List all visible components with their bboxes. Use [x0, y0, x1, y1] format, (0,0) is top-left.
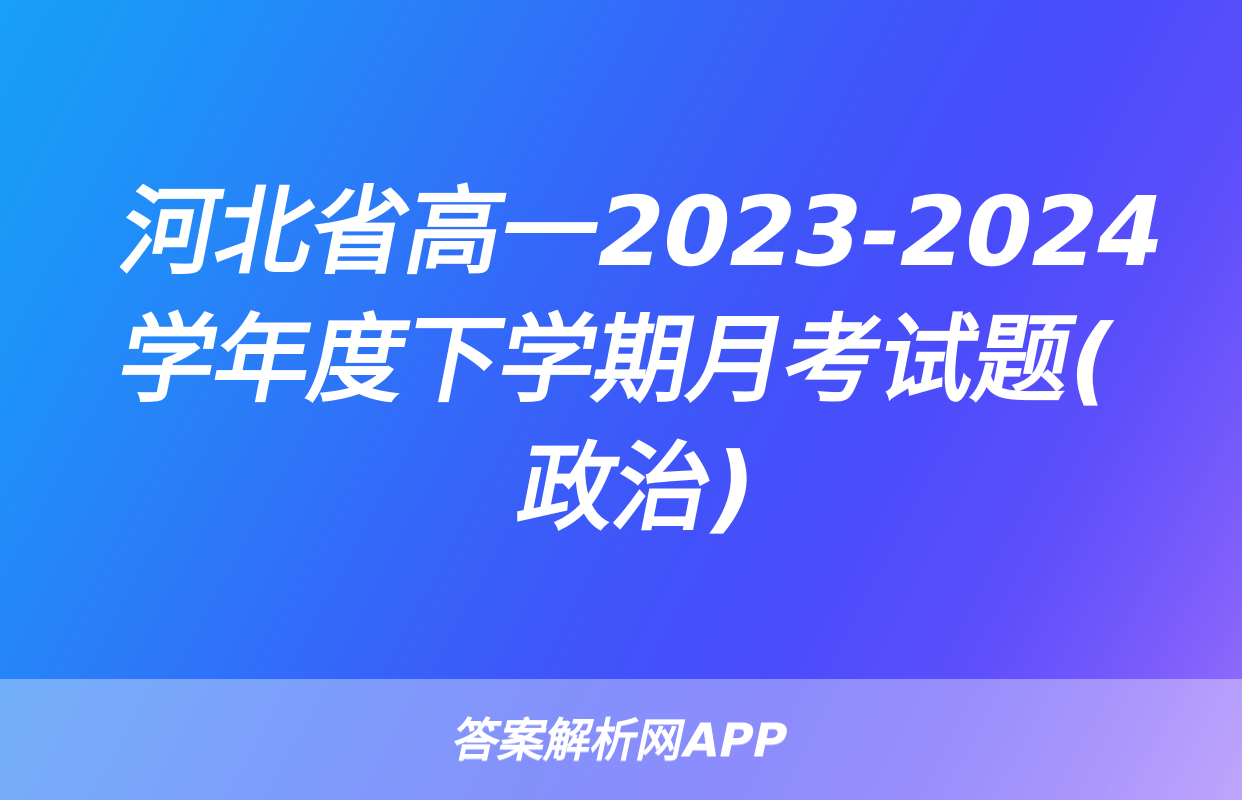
- share-card: 河北省高一2023-2024 学年度下学期月考试题( 政治) 答案解析网APP: [0, 0, 1242, 800]
- title-line-3: 政治): [508, 424, 1179, 552]
- footer-watermark-band: 答案解析网APP: [0, 679, 1242, 800]
- app-watermark-label: 答案解析网APP: [450, 717, 793, 763]
- page-title: 河北省高一2023-2024 学年度下学期月考试题( 政治): [104, 168, 1154, 552]
- title-line-1: 河北省高一2023-2024: [110, 168, 1179, 296]
- title-line-2: 学年度下学期月考试题(: [108, 296, 1179, 424]
